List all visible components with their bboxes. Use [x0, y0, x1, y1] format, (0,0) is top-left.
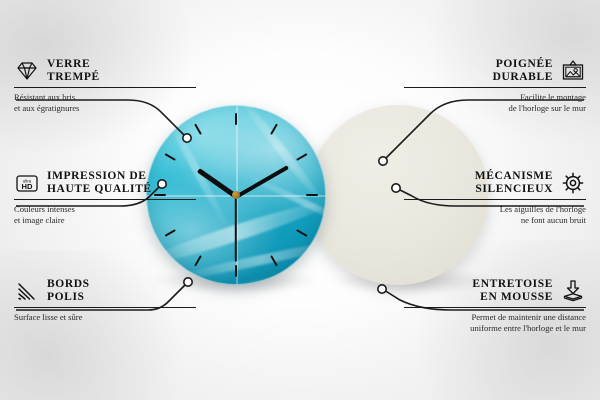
feature-title: POIGNÉE DURABLE: [493, 58, 553, 84]
feature-divider: [404, 307, 586, 308]
feature-poignee-durable: POIGNÉE DURABLE Facilite le montage de l…: [404, 58, 586, 113]
feature-subtitle-line1: Surface lisse et sûre: [14, 312, 196, 323]
svg-text:HD: HD: [22, 182, 33, 191]
feature-divider: [404, 199, 586, 200]
feature-header: POIGNÉE DURABLE: [404, 58, 586, 84]
ultra-hd-icon: ultra HD: [14, 170, 40, 196]
feature-subtitle-line1: Les aiguilles de l'horloge: [404, 204, 586, 215]
leader-dot-entretoise: [378, 285, 386, 293]
feature-subtitle-line1: Couleurs intenses: [14, 204, 196, 215]
feature-header: BORDS POLIS: [14, 278, 196, 304]
feature-subtitle-line2: de l'horloge sur le mur: [404, 103, 586, 114]
feature-title: BORDS POLIS: [47, 278, 90, 304]
diamond-icon: [14, 58, 40, 84]
feature-header: MÉCANISME SILENCIEUX: [404, 170, 586, 196]
feature-title: IMPRESSION DE HAUTE QUALITÉ: [47, 170, 152, 196]
foam-spacer-arrow-icon: [560, 278, 586, 304]
feature-divider: [14, 87, 196, 88]
feature-subtitle-line2: et image claire: [14, 215, 196, 226]
feature-title: VERRE TREMPÉ: [47, 58, 100, 84]
leader-dot-mecanisme: [392, 184, 400, 192]
gear-icon: [560, 170, 586, 196]
feature-divider: [404, 87, 586, 88]
feature-header: ultra HD IMPRESSION DE HAUTE QUALITÉ: [14, 170, 196, 196]
feature-bords-polis: BORDS POLIS Surface lisse et sûre: [14, 278, 196, 323]
feature-subtitle-line1: Résistant aux bris: [14, 92, 196, 103]
feature-subtitle-line1: Permet de maintenir une distance: [404, 312, 586, 323]
feature-subtitle-line1: Facilite le montage: [404, 92, 586, 103]
feature-header: ENTRETOISE EN MOUSSE: [404, 278, 586, 304]
infographic-canvas: VERRE TREMPÉ Résistant aux bris et aux é…: [0, 0, 600, 400]
feature-header: VERRE TREMPÉ: [14, 58, 196, 84]
feature-divider: [14, 199, 196, 200]
polished-edge-icon: [14, 278, 40, 304]
feature-entretoise-en-mousse: ENTRETOISE EN MOUSSE Permet de maintenir…: [404, 278, 586, 333]
feature-mecanisme-silencieux: MÉCANISME SILENCIEUX Les aiguilles de l: [404, 170, 586, 225]
feature-impression-haute-qualite: ultra HD IMPRESSION DE HAUTE QUALITÉ Cou…: [14, 170, 196, 225]
leader-dot-verre: [183, 134, 191, 142]
picture-hanger-icon: [560, 58, 586, 84]
leader-dot-poignee: [379, 157, 387, 165]
feature-verre-trempe: VERRE TREMPÉ Résistant aux bris et aux é…: [14, 58, 196, 113]
feature-subtitle-line2: ne font aucun bruit: [404, 215, 586, 226]
feature-title: ENTRETOISE EN MOUSSE: [472, 278, 553, 304]
feature-subtitle-line2: uniforme entre l'horloge et le mur: [404, 323, 586, 334]
feature-title: MÉCANISME SILENCIEUX: [475, 170, 553, 196]
feature-divider: [14, 307, 196, 308]
feature-subtitle-line2: et aux égratignures: [14, 103, 196, 114]
